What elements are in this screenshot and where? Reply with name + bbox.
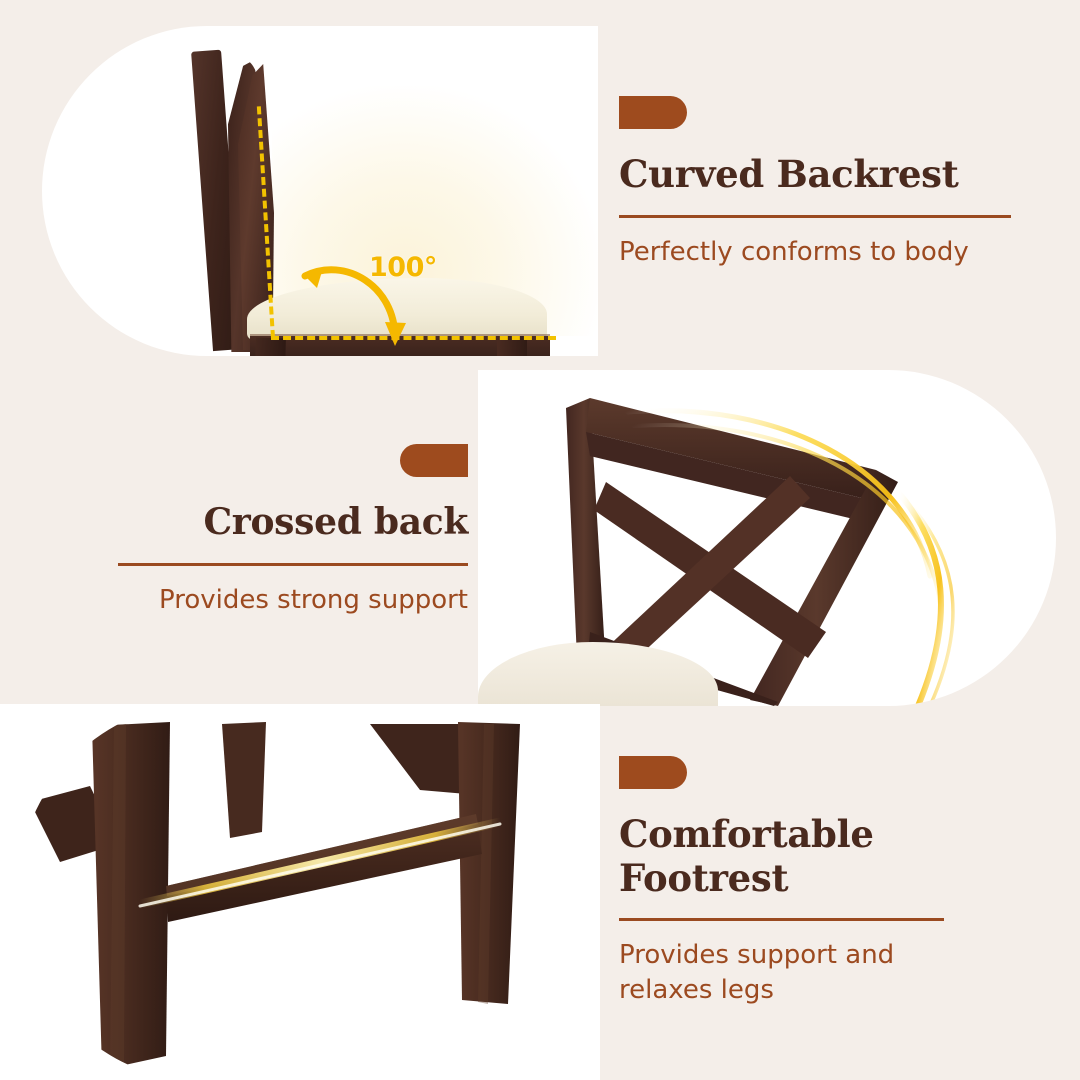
chair-footrest-photo	[0, 704, 600, 1080]
divider	[619, 918, 944, 921]
feature-text-comfortable-footrest: Comfortable Footrest Provides support an…	[619, 756, 944, 1007]
divider	[118, 563, 468, 566]
feature-badge-icon	[619, 756, 687, 789]
feature-text-curved-backrest: Curved Backrest Perfectly conforms to bo…	[619, 96, 1011, 269]
backrest-angle-label: 100°	[369, 252, 437, 283]
feature-badge-icon	[400, 444, 468, 477]
feature-subtitle: Provides strong support	[118, 583, 468, 617]
feature-subtitle: Perfectly conforms to body	[619, 235, 1011, 269]
feature-subtitle: Provides support and relaxes legs	[619, 938, 944, 1007]
chair-side-view-photo: 100°	[42, 26, 598, 356]
infographic-canvas: 100° Curved Backrest Perfectly conforms …	[0, 0, 1080, 1080]
feature-image-crossed-back	[478, 370, 1056, 706]
chair-rear-leg	[254, 338, 286, 356]
feature-title: Crossed back	[118, 501, 468, 543]
feature-badge-icon	[619, 96, 687, 129]
feature-image-curved-backrest: 100°	[42, 26, 598, 356]
chair-crossed-back-photo	[478, 370, 1056, 706]
feature-image-comfortable-footrest	[0, 704, 600, 1080]
feature-title: Curved Backrest	[619, 153, 1011, 197]
feature-text-crossed-back: Crossed back Provides strong support	[118, 444, 468, 618]
feature-title: Comfortable Footrest	[619, 813, 944, 900]
divider	[619, 215, 1011, 218]
footrest-illustration	[0, 704, 600, 1080]
